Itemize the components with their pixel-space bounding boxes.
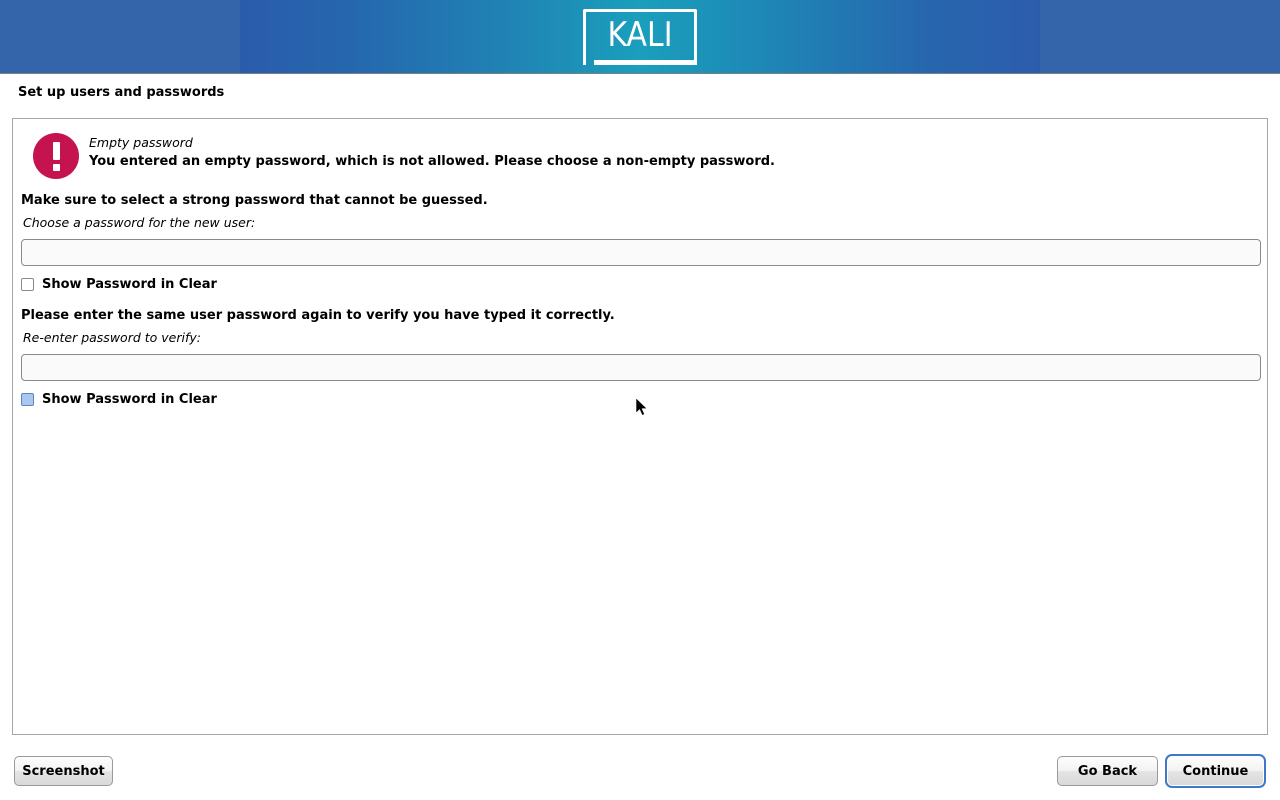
show-password-checkbox-label-2: Show Password in Clear [42, 392, 217, 407]
password-field-label: Choose a password for the new user: [23, 215, 255, 230]
installer-content-panel: Empty password You entered an empty pass… [12, 118, 1268, 735]
kali-banner: KALI [0, 0, 1280, 74]
show-password-checkbox-row-2[interactable]: Show Password in Clear [21, 392, 217, 407]
page-title: Set up users and passwords [18, 85, 224, 100]
kali-logo-frame-right-stub [694, 51, 697, 65]
show-password-checkbox-row-1[interactable]: Show Password in Clear [21, 277, 217, 292]
exclamation-stem [53, 142, 60, 160]
continue-button[interactable]: Continue [1167, 756, 1264, 786]
verify-section-heading: Please enter the same user password agai… [21, 308, 615, 323]
go-back-button[interactable]: Go Back [1057, 756, 1158, 786]
verify-field-label: Re-enter password to verify: [23, 330, 201, 345]
banner-separator [0, 73, 1280, 74]
verify-password-input[interactable] [21, 354, 1261, 381]
password-section-heading: Make sure to select a strong password th… [21, 193, 488, 208]
kali-logo-underline [594, 60, 694, 65]
alert-message: You entered an empty password, which is … [89, 154, 775, 169]
exclamation-dot [53, 164, 60, 171]
error-exclamation-icon [33, 133, 79, 179]
kali-logo-frame-left-stub [583, 56, 586, 65]
screenshot-button[interactable]: Screenshot [14, 756, 113, 786]
kali-logo-text: KALI [590, 15, 690, 55]
show-password-checkbox-label-1: Show Password in Clear [42, 277, 217, 292]
kali-logo: KALI [583, 9, 697, 65]
show-password-checkbox-1[interactable] [21, 278, 34, 291]
show-password-checkbox-2[interactable] [21, 393, 34, 406]
password-input[interactable] [21, 239, 1261, 266]
alert-title: Empty password [89, 135, 193, 150]
